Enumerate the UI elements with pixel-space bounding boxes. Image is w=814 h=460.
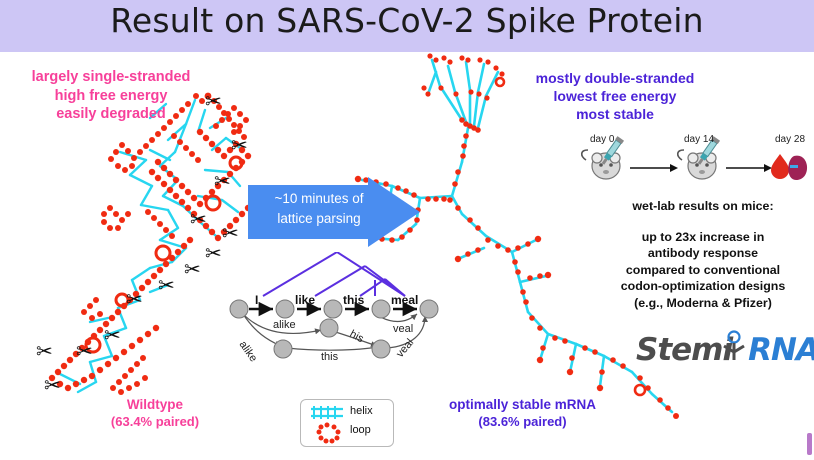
wetlab-line-5: (e.g., Moderna & Pfizer) [634, 296, 772, 310]
optimized-caption: optimally stable mRNA (83.6% paired) [415, 396, 630, 430]
blood-drop-and-spleen-icon [771, 154, 807, 180]
scissors-icon: ✂ [190, 207, 207, 231]
svg-text:veal: veal [393, 323, 413, 335]
timeline-arrow-1 [630, 164, 678, 172]
legend-icons [301, 400, 393, 446]
svg-text:like: like [295, 293, 315, 307]
logo-figure-icon [716, 330, 752, 370]
right-annotation-text: mostly double-stranded lowest free energ… [505, 70, 725, 124]
svg-text:this: this [321, 351, 339, 363]
arrow-label-line2: lattice parsing [254, 209, 384, 229]
timeline-arrow-2 [726, 164, 772, 172]
wildtype-caption-title: Wildtype [127, 397, 183, 412]
page-title: Result on SARS-CoV-2 Spike Protein [0, 1, 814, 40]
slide-canvas: ✂ ✂ ✂ ✂ ✂ ✂ ✂ ✂ ✂ ✂ ✂ ✂ ✂ ✂ Result on SA… [0, 0, 814, 460]
mouse-experiment-timeline: day 0 day 14 day 28 [572, 132, 812, 194]
scissors-icon: ✂ [76, 339, 93, 363]
legend-label-loop: loop [350, 424, 371, 436]
scissors-icon: ✂ [126, 287, 143, 311]
lattice-svg: I like this meal alike alike this his ve… [225, 252, 445, 370]
helix-icon [311, 406, 343, 419]
lattice-parsing-arrow: ~10 minutes of lattice parsing [248, 177, 423, 247]
mice-timeline-svg: day 0 day 14 day 28 [572, 132, 812, 194]
svg-text:meal: meal [391, 293, 418, 307]
optimized-caption-title: optimally stable mRNA [449, 397, 596, 412]
svg-text:this: this [343, 293, 365, 307]
optimized-caption-sub: (83.6% paired) [415, 414, 630, 431]
logo-text-rna: RNA [748, 332, 814, 368]
structure-legend: helix loop [300, 399, 394, 447]
loop-icon [317, 423, 341, 444]
arrow-label: ~10 minutes of lattice parsing [254, 189, 384, 228]
wetlab-line-1: up to 23x increase in [642, 230, 765, 244]
wetlab-heading: wet-lab results on mice: [596, 198, 810, 215]
day-label-14: day 14 [684, 134, 714, 145]
scissors-icon: ✂ [36, 339, 53, 363]
arrow-label-line1: ~10 minutes of [254, 189, 384, 209]
svg-text:I: I [255, 293, 258, 307]
scissors-icon: ✂ [205, 241, 222, 265]
scissors-icon: ✂ [222, 221, 239, 245]
parse-tree-edges [263, 252, 405, 296]
left-annotation-text: largely single-stranded high free energy… [6, 68, 216, 124]
scissors-icon: ✂ [214, 169, 231, 193]
scissors-icon: ✂ [158, 273, 175, 297]
scissors-icon: ✂ [231, 133, 248, 157]
wildtype-caption-sub: (63.4% paired) [60, 414, 250, 431]
day-label-28: day 28 [775, 134, 805, 145]
wetlab-line-2: antibody response [648, 246, 758, 260]
word-lattice-parse-diagram: I like this meal alike alike this his ve… [225, 252, 445, 370]
wetlab-line-4: codon-optimization designs [621, 279, 786, 293]
wildtype-caption: Wildtype (63.4% paired) [60, 396, 250, 430]
svg-text:alike: alike [237, 339, 260, 364]
scissors-icon: ✂ [184, 257, 201, 281]
timeline-day-labels: day 0 day 14 day 28 [590, 134, 805, 145]
scissors-icon: ✂ [44, 373, 61, 397]
legend-label-helix: helix [350, 405, 373, 417]
scissors-icon: ✂ [104, 323, 121, 347]
svg-text:his: his [348, 328, 366, 345]
day-label-0: day 0 [590, 134, 615, 145]
svg-text:alike: alike [273, 319, 296, 331]
stemirna-logo: StemiRNA [636, 330, 806, 376]
scrollbar-sliver[interactable] [807, 433, 812, 455]
wetlab-line-3: compared to conventional [626, 263, 780, 277]
wetlab-results-text: wet-lab results on mice: up to 23x incre… [596, 198, 810, 311]
